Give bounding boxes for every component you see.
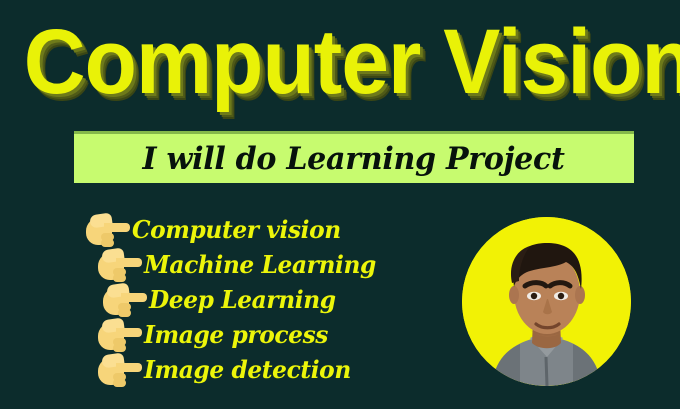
list-item-label: Image detection: [144, 356, 351, 384]
list-item-label: Image process: [144, 321, 328, 349]
list-item: Image detection: [98, 352, 416, 387]
pointing-hand-right-icon: [98, 353, 142, 387]
list-item: Computer vision: [86, 212, 416, 247]
page-title: Computer Vision: [24, 14, 656, 110]
pointing-hand-right-icon: [86, 213, 130, 247]
services-list: Computer vision Machine Learning Deep Le…: [86, 212, 416, 387]
pointing-hand-right-icon: [98, 248, 142, 282]
gig-thumbnail: Computer Vision I will do Learning Proje…: [0, 0, 680, 409]
avatar: [462, 217, 631, 386]
list-item-label: Computer vision: [132, 216, 341, 244]
pointing-hand-right-icon: [103, 283, 147, 317]
list-item-label: Machine Learning: [144, 251, 376, 279]
list-item: Machine Learning: [98, 247, 416, 282]
subtitle-text: I will do Learning Project: [143, 142, 565, 176]
list-item: Deep Learning: [103, 282, 416, 317]
list-item-label: Deep Learning: [149, 286, 336, 314]
pointing-hand-right-icon: [98, 318, 142, 352]
subtitle-banner: I will do Learning Project: [74, 131, 634, 183]
list-item: Image process: [98, 317, 416, 352]
